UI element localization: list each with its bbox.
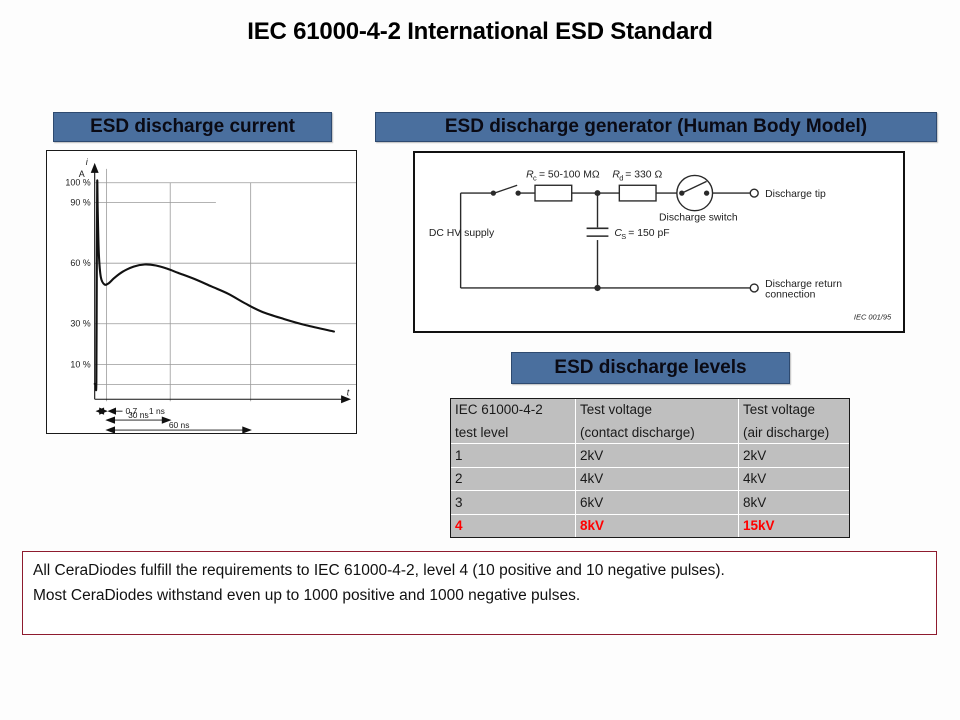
cell-air-voltage: 8kV [739, 491, 850, 514]
chart-ytick-100: 100 % [65, 178, 90, 188]
column-header-level-line1: IEC 61000-4-2 [451, 399, 576, 421]
page-title: IEC 61000-4-2 International ESD Standard [0, 18, 960, 46]
charging-resistor-subscript: c [533, 173, 537, 182]
chart-annotation-60ns: 60 ns [169, 420, 190, 430]
chart-ytick-30: 30 % [70, 319, 90, 329]
chart-vertical-gridlines [107, 169, 251, 401]
charging-resistor-value: = 50-100 MΩ [539, 170, 600, 181]
discharge-tip-label: Discharge tip [765, 189, 826, 200]
table-row: 1 2kV 2kV [451, 444, 849, 467]
chart-xlabel-symbol: t [347, 387, 350, 397]
discharge-tip-terminal [750, 189, 758, 197]
esd-current-waveform-chart: i A t 100 % 90 % 60 % 30 % 10 % [46, 150, 357, 434]
discharge-return-terminal [750, 284, 758, 292]
circuit-junction-dots [491, 190, 710, 291]
table-row: 3 6kV 8kV [451, 491, 849, 514]
dc-hv-supply-label: DC HV supply [429, 228, 495, 239]
column-header-level-line2: test level [451, 421, 576, 444]
cell-contact-voltage: 2kV [576, 444, 739, 467]
note-line-1: All CeraDiodes fulfill the requirements … [33, 561, 926, 580]
chart-ytick-90: 90 % [70, 198, 90, 208]
table-row-highlighted: 4 8kV 15kV [451, 514, 849, 537]
cell-air-voltage: 4kV [739, 467, 850, 490]
discharge-resistor-symbol [619, 185, 656, 201]
column-header-air-line2: (air discharge) [739, 421, 850, 444]
charging-resistor-symbol [535, 185, 572, 201]
chart-ytick-60: 60 % [70, 258, 90, 268]
section-header-discharge-levels: ESD discharge levels [511, 352, 790, 384]
storage-capacitor-symbol [587, 228, 609, 236]
capacitor-value: = 150 pF [628, 228, 669, 239]
table-header-row-line1: IEC 61000-4-2 Test voltage Test voltage [451, 399, 849, 421]
discharge-resistor-value: = 330 Ω [625, 170, 662, 181]
discharge-return-label-line1: Discharge return [765, 279, 842, 290]
discharge-return-label-line2: connection [765, 290, 816, 301]
column-header-contact-line1: Test voltage [576, 399, 739, 421]
circuit-svg: R c = 50-100 MΩ R d = 330 Ω C S = 150 pF… [415, 153, 903, 331]
cell-level: 4 [451, 514, 576, 537]
capacitor-subscript: S [621, 232, 626, 241]
chart-gridlines [95, 183, 356, 385]
iec-figure-code: IEC 001/95 [854, 312, 892, 321]
cell-level: 3 [451, 491, 576, 514]
table-row: 2 4kV 4kV [451, 467, 849, 490]
cell-level: 2 [451, 467, 576, 490]
section-header-discharge-generator: ESD discharge generator (Human Body Mode… [375, 112, 937, 142]
cell-air-voltage: 15kV [739, 514, 850, 537]
chart-annotation-30ns: 30 ns [128, 410, 149, 420]
esd-generator-circuit-diagram: R c = 50-100 MΩ R d = 330 Ω C S = 150 pF… [413, 151, 905, 333]
section-header-discharge-generator-label: ESD discharge generator (Human Body Mode… [445, 116, 867, 138]
levels-table-element: IEC 61000-4-2 Test voltage Test voltage … [451, 399, 849, 537]
ceradiodes-note-box: All CeraDiodes fulfill the requirements … [22, 551, 937, 635]
esd-current-curve [95, 180, 334, 390]
table-header-row-line2: test level (contact discharge) (air disc… [451, 421, 849, 444]
cell-contact-voltage: 6kV [576, 491, 739, 514]
chart-ylabel-symbol: i [86, 157, 89, 167]
cell-contact-voltage: 4kV [576, 467, 739, 490]
slide-root: IEC 61000-4-2 International ESD Standard… [0, 0, 960, 720]
chart-x-axis [95, 395, 351, 403]
cell-level: 1 [451, 444, 576, 467]
discharge-switch-label: Discharge switch [659, 213, 738, 224]
note-line-2: Most CeraDiodes withstand even up to 100… [33, 586, 926, 605]
esd-discharge-levels-table: IEC 61000-4-2 Test voltage Test voltage … [450, 398, 850, 538]
cell-air-voltage: 2kV [739, 444, 850, 467]
chart-svg: i A t 100 % 90 % 60 % 30 % 10 % [47, 151, 356, 433]
chart-ytick-10: 10 % [70, 359, 90, 369]
discharge-resistor-subscript: d [619, 173, 623, 182]
section-header-discharge-current: ESD discharge current [53, 112, 332, 142]
section-header-discharge-levels-label: ESD discharge levels [554, 357, 746, 379]
column-header-air-line1: Test voltage [739, 399, 850, 421]
column-header-contact-line2: (contact discharge) [576, 421, 739, 444]
section-header-discharge-current-label: ESD discharge current [90, 116, 295, 138]
cell-contact-voltage: 8kV [576, 514, 739, 537]
